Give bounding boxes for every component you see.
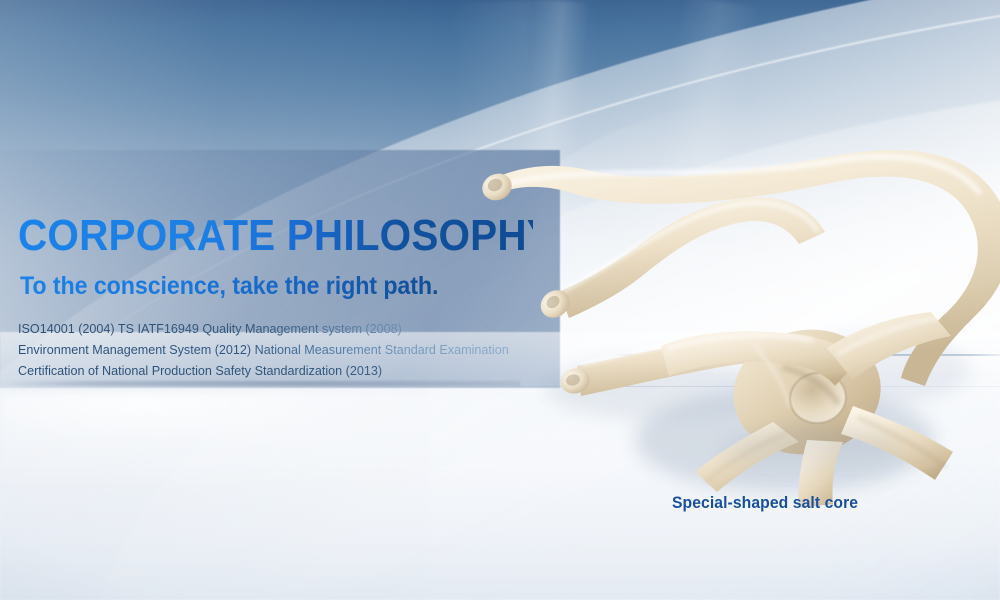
certification-line-1: ISO14001 (2004) TS IATF16949 Quality Man… — [18, 319, 578, 340]
tagline: To the conscience, take the right path. — [20, 273, 539, 301]
philosophy-text-block: CORPORATE PHILOSOPHY To the conscience, … — [18, 214, 578, 382]
certification-line-3: Certification of National Production Saf… — [18, 361, 578, 382]
salt-core-arm-middle — [559, 197, 825, 318]
salt-core-contact-shadow — [719, 428, 903, 480]
certification-list: ISO14001 (2004) TS IATF16949 Quality Man… — [18, 319, 578, 382]
corporate-philosophy-banner: CORPORATE PHILOSOPHY To the conscience, … — [0, 0, 1000, 600]
certification-line-2: Environment Management System (2012) Nat… — [18, 340, 578, 361]
product-caption: Special-shaped salt core — [672, 494, 858, 513]
page-title: CORPORATE PHILOSOPHY — [18, 214, 533, 259]
